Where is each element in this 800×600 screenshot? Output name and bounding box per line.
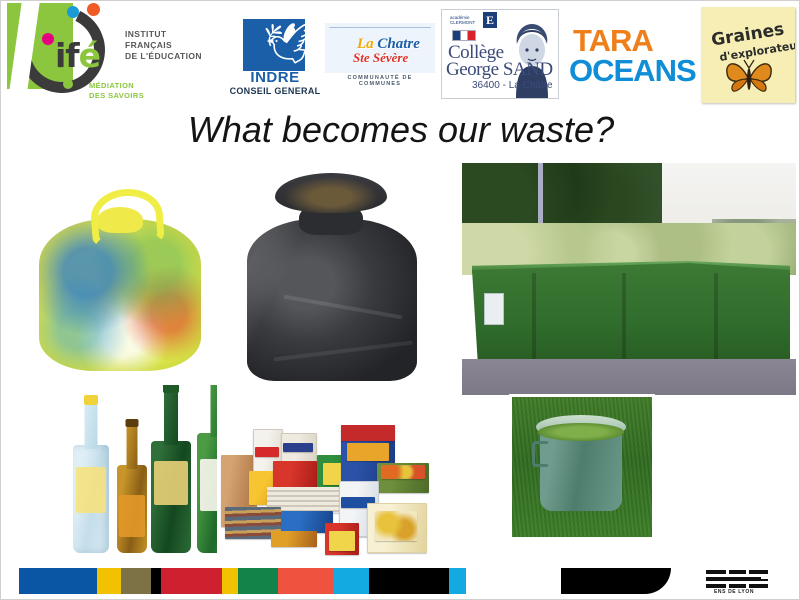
garden-waste-bag-photo xyxy=(509,394,655,540)
yellow-recycling-bag-photo xyxy=(25,179,215,375)
skip-rib-3 xyxy=(714,273,718,369)
graines-d-explorateurs-logo: Graines d'explorateurs xyxy=(701,7,795,103)
bottle-label xyxy=(119,495,144,537)
indre-blue-box: 🕊 xyxy=(243,19,305,71)
yellow-bag-knot xyxy=(89,187,165,248)
partner-logo-strip: ifé INSTITUT FRANÇAIS DE L'ÉDUCATION MÉD… xyxy=(1,1,800,113)
bottle-neck xyxy=(211,385,218,437)
bottle-neck xyxy=(85,403,98,449)
chatre-line2: Ste Sévère xyxy=(353,50,408,66)
cgs-badge-letter: E xyxy=(483,12,497,28)
footer-stripe-8 xyxy=(334,568,369,594)
glass-bottle-red-wine xyxy=(197,433,217,553)
ens-wordmark xyxy=(706,570,768,588)
skip-ground-tarmac xyxy=(462,359,796,395)
tara-line2: OCEANS xyxy=(569,53,691,89)
ife-dot-green-bottom-icon xyxy=(63,79,73,89)
glass-bottles-photo xyxy=(21,385,217,557)
bottle-label xyxy=(200,459,217,511)
ife-tagline-line1: MÉDIATION xyxy=(89,81,144,91)
footer-black-swoosh xyxy=(561,568,671,594)
ife-fullname-line1: INSTITUT xyxy=(125,29,202,40)
garden-waste-bag-handle xyxy=(532,441,550,467)
footer-stripe-0 xyxy=(19,568,97,594)
bottle-neck xyxy=(127,425,138,469)
indre-subtitle: CONSEIL GENERAL xyxy=(229,86,321,96)
fruits-et-fibres-top xyxy=(341,425,395,441)
ife-wordmark-base: if xyxy=(55,36,79,75)
black-bag-body xyxy=(247,219,417,381)
tara-oceans-logo: TARA OCEANS xyxy=(573,23,695,89)
bottle-neck xyxy=(164,389,178,445)
ife-wordmark: ifé xyxy=(55,36,100,75)
college-george-sand-logo: académieCLERMONT E Collège George SAND 3… xyxy=(441,9,559,99)
footer-stripe-7 xyxy=(278,568,334,594)
cut-grass-contents xyxy=(538,423,624,441)
footer-stripe-5 xyxy=(222,568,238,594)
footer-stripe-3 xyxy=(151,568,161,594)
page-title: What becomes our waste? xyxy=(1,109,800,151)
ife-dot-green-icon xyxy=(51,21,62,32)
bottle-cap xyxy=(163,385,179,393)
skip-rib-1 xyxy=(532,273,536,369)
footer-stripe-1 xyxy=(97,568,121,594)
footer-stripe-2 xyxy=(121,568,151,594)
bottle-cap xyxy=(126,419,139,427)
ife-tagline-line2: DES SAVOIRS xyxy=(89,91,144,101)
cereal-box-1-band xyxy=(255,447,279,457)
bottle-cap xyxy=(84,395,98,405)
cgs-line2: George SAND xyxy=(446,59,553,81)
bottle-label xyxy=(76,467,106,513)
black-bag-open-top xyxy=(275,173,387,213)
toy-box-front xyxy=(329,531,355,551)
indre-conseil-general-logo: 🕊 INDRE CONSEIL GENERAL xyxy=(229,19,321,101)
color-stripe-footer: ENS DE LYON xyxy=(1,568,800,596)
la-chatre-ste-severe-logo: ~~~~~~~~~~~~~~~~~~~~~~~~~~~~~~~~~~~~~~~~… xyxy=(325,23,435,93)
presentation-slide: ifé INSTITUT FRANÇAIS DE L'ÉDUCATION MÉD… xyxy=(0,0,800,600)
paper-and-packaging-photo xyxy=(219,415,431,561)
ife-wordmark-accent: é xyxy=(79,36,100,75)
ife-fullname-line2: FRANÇAIS xyxy=(125,40,202,51)
cereal-box-2-band xyxy=(283,443,313,452)
chatre-blue-panel: ~~~~~~~~~~~~~~~~~~~~~~~~~~~~~~~~~~~~~~~~… xyxy=(325,23,435,73)
ife-fullname: INSTITUT FRANÇAIS DE L'ÉDUCATION xyxy=(125,29,202,62)
ife-logo: ifé INSTITUT FRANÇAIS DE L'ÉDUCATION MÉD… xyxy=(7,3,219,107)
skip-paper-notice xyxy=(484,293,504,325)
footer-stripe-10 xyxy=(449,568,466,594)
ife-fullname-line3: DE L'ÉDUCATION xyxy=(125,51,202,62)
ens-subtitle: ENS DE LYON xyxy=(714,589,754,595)
ife-dot-magenta-icon xyxy=(42,33,54,45)
fruits-et-fibres-window xyxy=(347,443,389,461)
cgs-line3: 36400 - La Châtre xyxy=(472,80,553,91)
ife-dot-blue-icon xyxy=(67,6,79,18)
ens-de-lyon-logo: ENS DE LYON xyxy=(706,570,772,596)
yellow-carton-motif xyxy=(375,511,417,541)
black-garbage-bag-photo xyxy=(237,167,427,383)
french-flag-icon xyxy=(452,30,476,41)
footer-stripe-4 xyxy=(161,568,222,594)
glass-bottle-beer xyxy=(117,465,147,553)
chocolate-bar xyxy=(271,531,317,547)
footer-stripe-9 xyxy=(369,568,449,594)
skip-rib-2 xyxy=(622,273,626,369)
ife-dot-green-small-icon xyxy=(38,50,47,59)
glass-bottle-water xyxy=(73,445,109,553)
indre-title: INDRE xyxy=(229,69,321,86)
chatre-subtitle: COMMUNAUTÉ DE COMMUNES xyxy=(325,75,435,87)
black-bag-crease-2 xyxy=(273,340,412,361)
ife-tagline: MÉDIATION DES SAVOIRS xyxy=(89,81,144,100)
ife-dot-orange-icon xyxy=(87,3,100,16)
fruit-crate-contents xyxy=(381,465,425,479)
bottle-label xyxy=(154,461,188,505)
glass-bottle-champagne xyxy=(151,441,191,553)
footer-stripe-6 xyxy=(238,568,278,594)
butterfly-icon xyxy=(723,57,775,99)
dove-icon: 🕊 xyxy=(263,22,314,66)
green-skip-container-photo xyxy=(462,163,796,395)
black-bag-crease-1 xyxy=(284,295,403,320)
